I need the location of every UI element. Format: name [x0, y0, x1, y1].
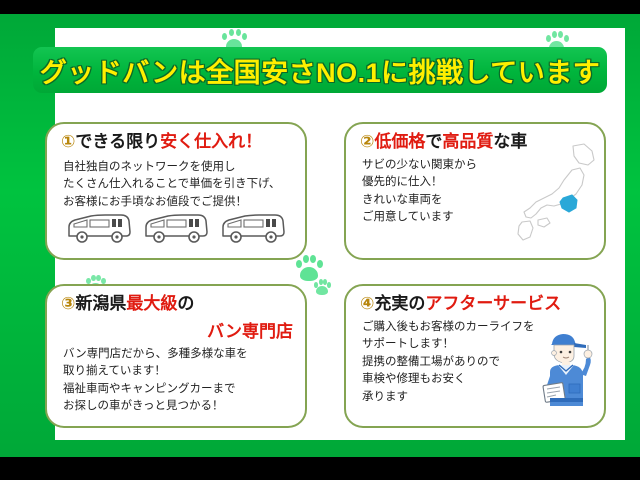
feature-2-heading-red-2: 高品質: [442, 132, 493, 151]
feature-box-4: ④充実のアフターサービス ご購入後もお客様のカーライフを サポートします！ 提携…: [344, 284, 606, 428]
van-icon: [219, 212, 287, 246]
headline-banner: グッドバンは全国安さNO.1に挑戦しています: [33, 47, 607, 93]
headline-text: グッドバンは全国安さNO.1に挑戦しています: [40, 51, 601, 90]
feature-2-body: サビの少ない関東から 優先的に仕入！ きれいな車両を ご用意しています: [362, 157, 477, 227]
feature-4-heading-red: アフターサービス: [425, 294, 561, 313]
feature-3-heading: ③新潟県最大級の: [61, 295, 297, 314]
feature-3-heading-red: 最大級: [126, 294, 177, 313]
feature-1-heading-black: できる限り: [75, 132, 160, 151]
poster-canvas: グッドバンは全国安さNO.1に挑戦しています ①できる限り安く仕入れ！ 自社独自…: [0, 0, 640, 480]
feature-box-3: ③新潟県最大級の バン専門店 バン専門店だから、多種多様な車を 取り揃えています…: [45, 284, 307, 428]
feature-3-heading-line2: バン専門店: [207, 317, 293, 342]
feature-1-heading: ①できる限り安く仕入れ！: [61, 133, 297, 152]
feature-3-number: ③: [61, 294, 75, 313]
paw-print-icon: [295, 254, 323, 282]
feature-2-heading-red: 低価格: [374, 132, 425, 151]
feature-3-body: バン専門店だから、多種多様な車を 取り揃えています！ 福祉車両やキャンピングカー…: [63, 346, 248, 416]
van-icon: [65, 212, 133, 246]
feature-4-heading-black: 充実の: [374, 294, 425, 313]
mechanic-illustration: [536, 328, 598, 414]
feature-4-number: ④: [360, 294, 374, 313]
van-icon: [142, 212, 210, 246]
feature-1-body: 自社独自のネットワークを使用し たくさん仕入れることで単価を引き下げ、 お客様に…: [63, 159, 280, 211]
feature-4-body: ご購入後もお客様のカーライフを サポートします！ 提携の整備工場がありので 車検…: [362, 319, 535, 406]
feature-2-heading-black: で: [425, 132, 442, 151]
feature-2-number: ②: [360, 132, 374, 151]
feature-box-1: ①できる限り安く仕入れ！ 自社独自のネットワークを使用し たくさん仕入れることで…: [45, 122, 307, 260]
paw-print-icon: [313, 278, 331, 296]
feature-1-heading-red: 安く仕入れ！: [160, 132, 262, 151]
feature-3-heading-black: 新潟県: [75, 294, 126, 313]
feature-4-heading: ④充実のアフターサービス: [360, 295, 596, 314]
feature-3-heading-black-2: の: [177, 294, 194, 313]
feature-box-2: ②低価格で高品質な車 サビの少ない関東から 優先的に仕入！ きれいな車両を ご用…: [344, 122, 606, 260]
japan-map-icon: [514, 142, 600, 246]
van-illustration-row: [65, 212, 287, 246]
feature-1-number: ①: [61, 132, 75, 151]
